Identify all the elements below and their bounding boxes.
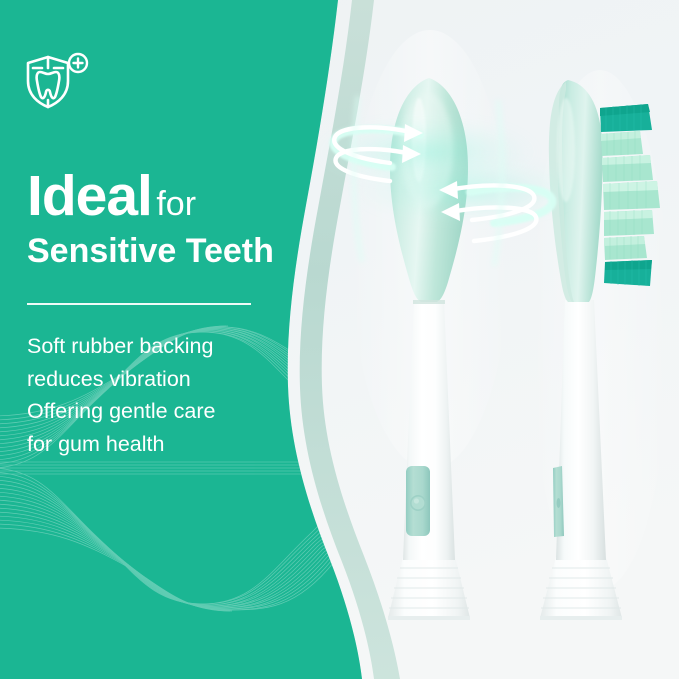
bristle-row-light-4: [604, 210, 654, 236]
product-marketing-image: Ideal for Sensitive Teeth Soft rubber ba…: [0, 0, 679, 679]
bristle-row-light-5: [604, 236, 647, 260]
bristle-row-dark-bottom: [604, 260, 652, 286]
bristle-row-light-3: [603, 181, 660, 210]
body-line: Soft rubber backing: [27, 330, 277, 363]
bristle-row-light-1: [601, 131, 643, 156]
body-line: Offering gentle care: [27, 395, 277, 428]
body-line: reduces vibration: [27, 363, 277, 396]
bristle-row-dark-top: [600, 104, 652, 132]
headline-light: for: [156, 185, 196, 223]
bristle-row-light-2: [602, 155, 653, 182]
body-copy: Soft rubber backing reduces vibration Of…: [27, 330, 277, 461]
headline: Ideal for Sensitive Teeth: [27, 168, 289, 275]
brush-left-grip: [406, 466, 430, 536]
panel-content: Ideal for Sensitive Teeth Soft rubber ba…: [0, 0, 300, 679]
body-line: for gum health: [27, 428, 277, 461]
headline-line-2: Sensitive Teeth: [27, 229, 289, 275]
divider: [27, 303, 251, 305]
headline-line-1: Ideal for: [27, 168, 289, 225]
shield-tooth-plus-icon: [22, 52, 92, 110]
headline-strong: Ideal: [27, 164, 152, 228]
